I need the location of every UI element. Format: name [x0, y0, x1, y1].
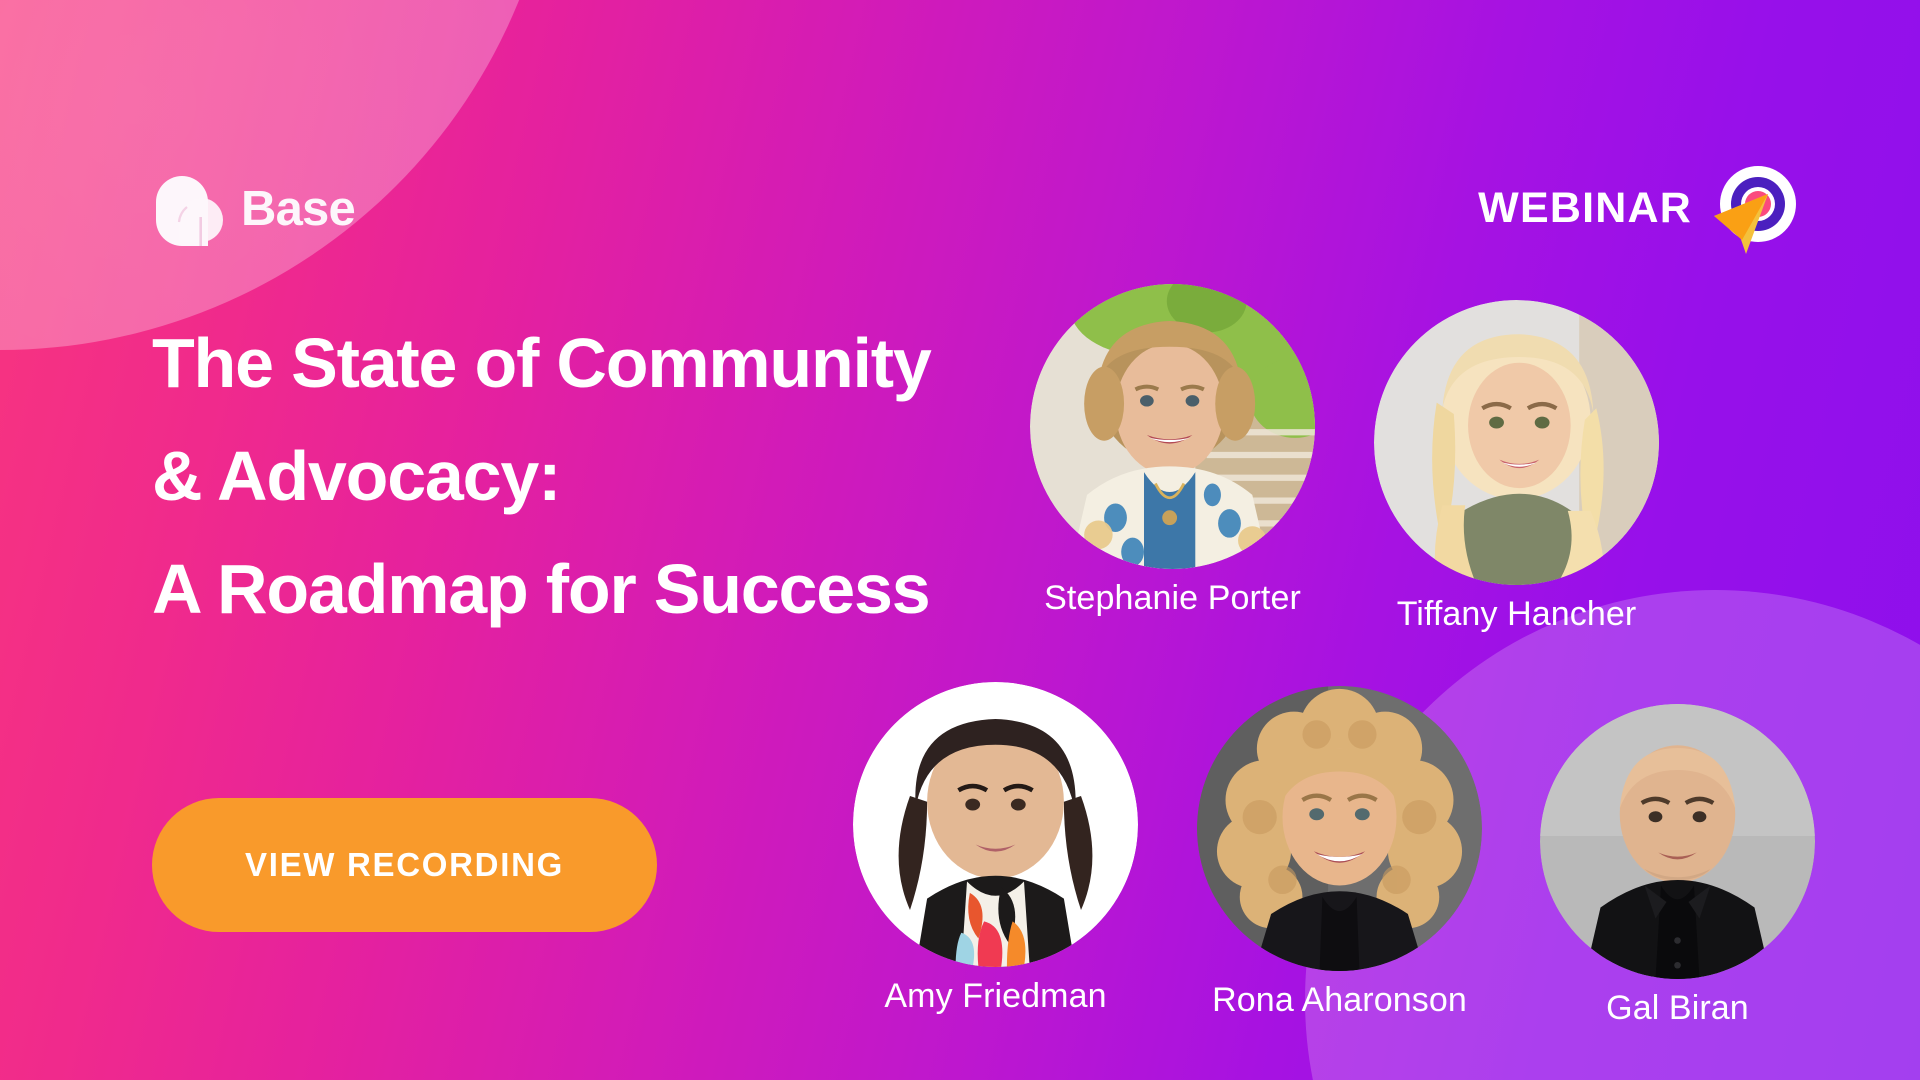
- speaker-grid: Stephanie Porter: [880, 0, 1920, 1080]
- avatar: [853, 682, 1138, 967]
- view-recording-label: VIEW RECORDING: [245, 846, 564, 884]
- base-logo[interactable]: Base: [152, 172, 355, 246]
- speaker-card: Rona Aharonson: [1197, 686, 1482, 1020]
- speaker-name: Gal Biran: [1606, 989, 1749, 1028]
- page-title: The State of Community & Advocacy: A Roa…: [152, 307, 931, 646]
- avatar: [1197, 686, 1482, 971]
- avatar: [1374, 300, 1659, 585]
- base-logo-text: Base: [241, 185, 355, 234]
- speaker-card: Gal Biran: [1540, 704, 1815, 1028]
- webinar-promo-banner: Base The State of Community & Advocacy: …: [0, 0, 1920, 1080]
- view-recording-button[interactable]: VIEW RECORDING: [152, 798, 657, 932]
- speaker-card: Amy Friedman: [853, 682, 1138, 1016]
- title-line-3: A Roadmap for Success: [152, 533, 931, 646]
- speaker-name: Amy Friedman: [884, 977, 1106, 1016]
- base-leaf-mark-icon: [152, 172, 224, 246]
- speaker-name: Tiffany Hancher: [1397, 595, 1637, 634]
- speaker-card: Tiffany Hancher: [1374, 300, 1659, 634]
- speaker-name: Rona Aharonson: [1212, 981, 1467, 1020]
- title-line-2: & Advocacy:: [152, 420, 931, 533]
- speaker-name: Stephanie Porter: [1044, 579, 1301, 618]
- avatar: [1540, 704, 1815, 979]
- title-line-1: The State of Community: [152, 307, 931, 420]
- avatar: [1030, 284, 1315, 569]
- speaker-card: Stephanie Porter: [1030, 284, 1315, 618]
